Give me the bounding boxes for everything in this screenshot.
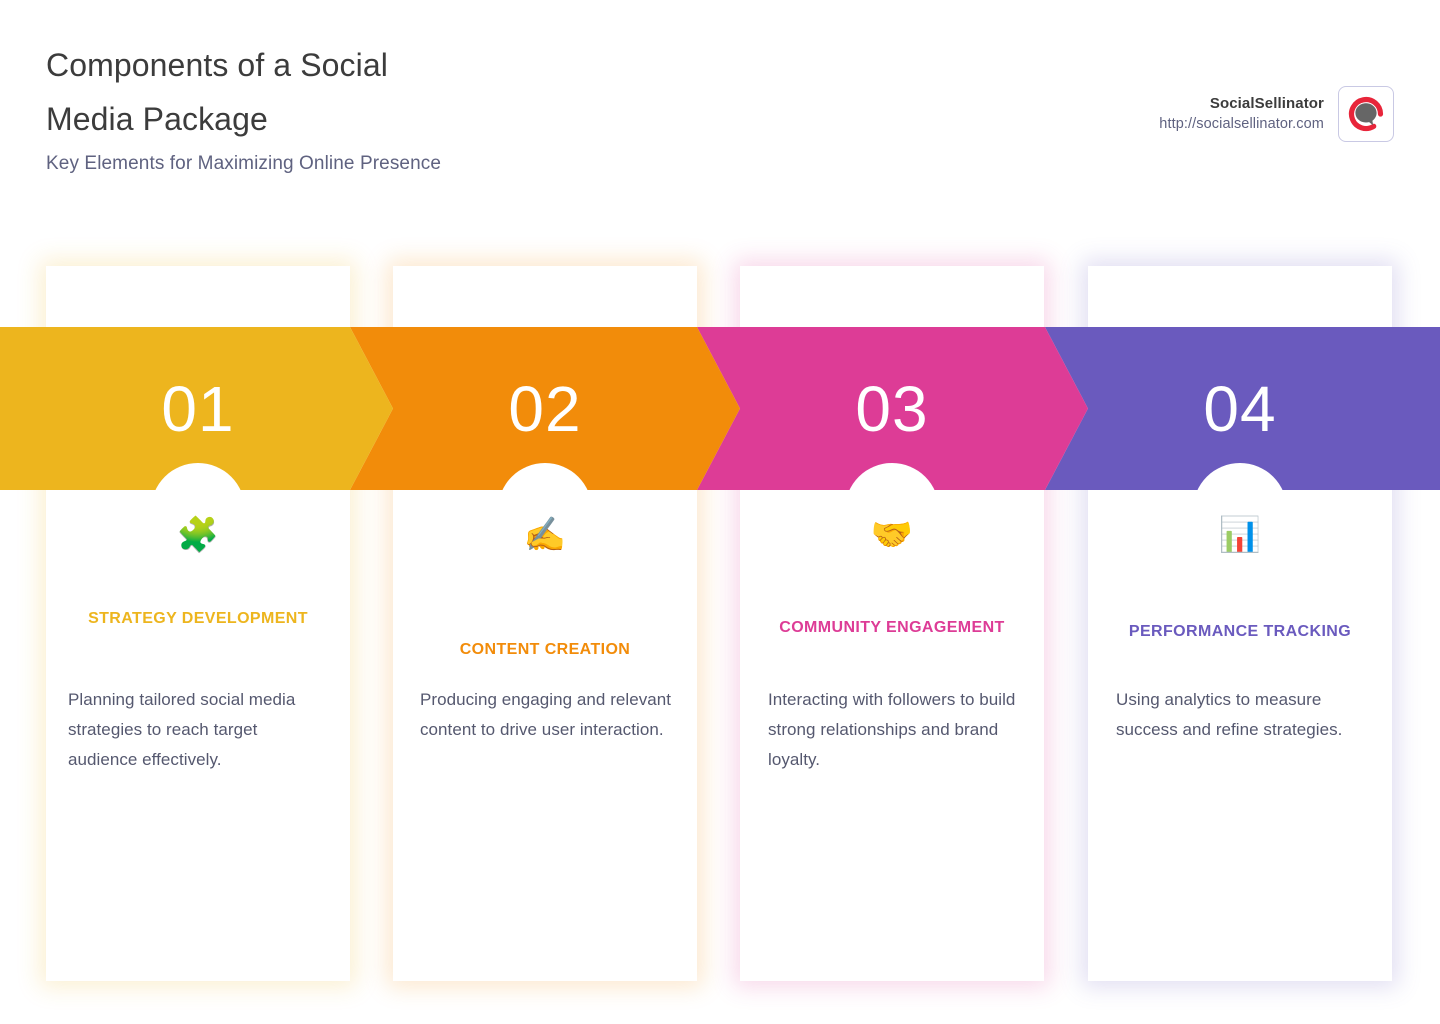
infographic-canvas: Components of a Social Media Package Key… <box>0 0 1440 1024</box>
brand-logo <box>1338 86 1394 142</box>
step-body-3: Interacting with followers to build stro… <box>768 685 1024 775</box>
brand-block: SocialSellinator http://socialsellinator… <box>1159 86 1394 142</box>
page-subtitle: Key Elements for Maximizing Online Prese… <box>46 153 441 175</box>
puzzle-piece-icon: 🧩 <box>46 505 350 565</box>
handshake-icon: 🤝 <box>740 505 1044 565</box>
brand-url[interactable]: http://socialsellinator.com <box>1159 114 1324 134</box>
step-body-2: Producing engaging and relevant content … <box>420 685 676 745</box>
bar-chart-icon: 📊 <box>1088 505 1392 565</box>
page-title: Components of a Social Media Package <box>46 38 686 146</box>
brand-text: SocialSellinator http://socialsellinator… <box>1159 94 1324 134</box>
step-heading-3: COMMUNITY ENGAGEMENT <box>768 613 1016 643</box>
step-heading-1: STRATEGY DEVELOPMENT <box>74 604 322 634</box>
brand-name: SocialSellinator <box>1159 94 1324 114</box>
writing-hand-icon: ✍️ <box>393 505 697 565</box>
step-body-4: Using analytics to measure success and r… <box>1116 685 1372 745</box>
speech-bubble-ring-logo-icon <box>1346 94 1386 134</box>
step-heading-2: CONTENT CREATION <box>421 635 669 665</box>
step-heading-4: PERFORMANCE TRACKING <box>1116 617 1364 647</box>
step-body-1: Planning tailored social media strategie… <box>68 685 324 775</box>
